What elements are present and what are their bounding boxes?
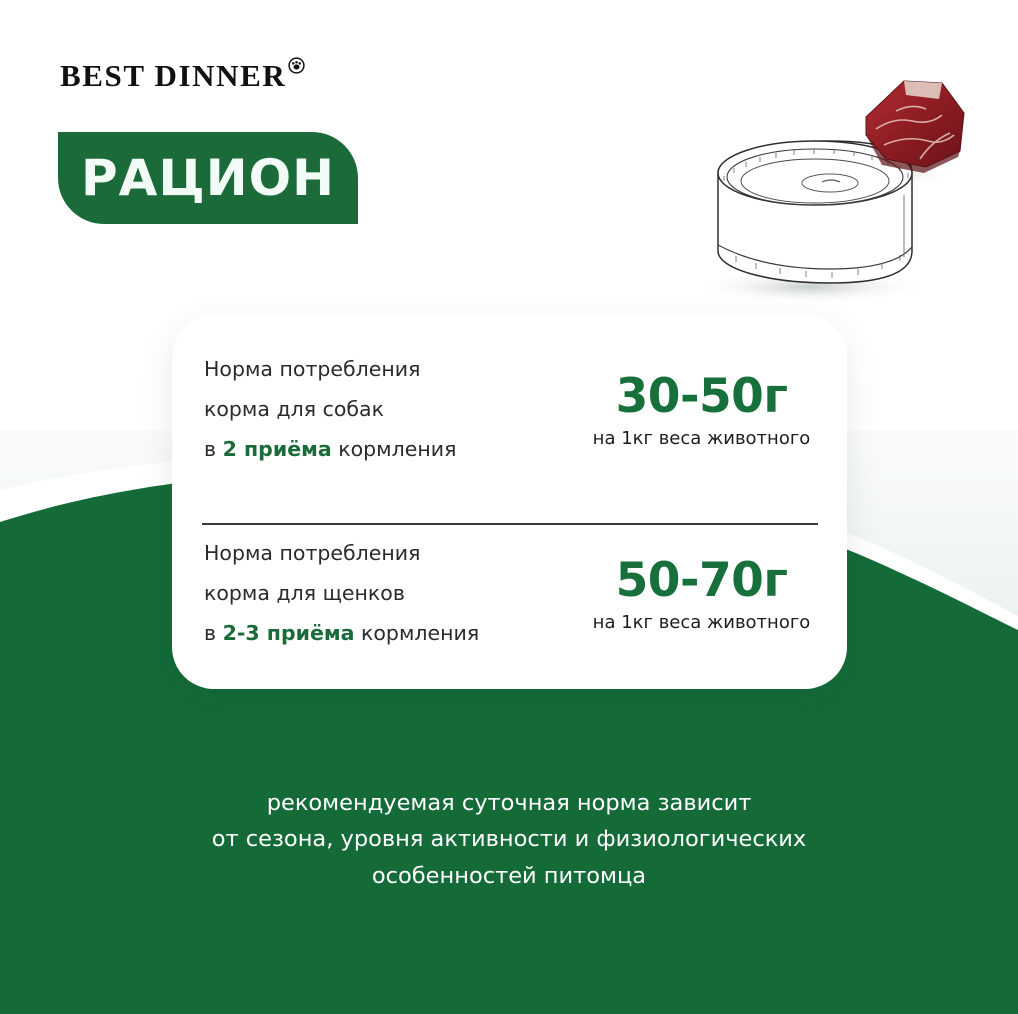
poster-root: BEST DINNER РАЦИОН bbox=[0, 0, 1018, 1014]
feeding-row-dogs-line3-prefix: в bbox=[204, 437, 223, 461]
feeding-row-puppies-line3-accent: 2-3 приёма bbox=[223, 621, 355, 645]
feeding-row-dogs-line2: корма для собак bbox=[204, 390, 570, 430]
footnote-line2: от сезона, уровня активности и физиологи… bbox=[0, 821, 1018, 857]
feeding-row-puppies-description: Норма потребления корма для щенков в 2-3… bbox=[172, 534, 570, 654]
product-illustration bbox=[690, 55, 980, 305]
feeding-row-dogs-line1: Норма потребления bbox=[204, 350, 570, 390]
feeding-row-dogs-line3: в 2 приёма кормления bbox=[204, 430, 570, 470]
brand-logo: BEST DINNER bbox=[60, 60, 305, 91]
footnote-line1: рекомендуемая суточная норма зависит bbox=[0, 785, 1018, 821]
feeding-row-dogs-amount-block: 30-50г на 1кг веса животного bbox=[570, 371, 847, 450]
feeding-row-puppies-line3: в 2-3 приёма кормления bbox=[204, 614, 570, 654]
feeding-row-puppies-amount-block: 50-70г на 1кг веса животного bbox=[570, 555, 847, 634]
brand-name: BEST DINNER bbox=[60, 60, 286, 91]
feeding-row-dogs-line3-suffix: кормления bbox=[332, 437, 457, 461]
feeding-row-puppies-line1: Норма потребления bbox=[204, 534, 570, 574]
feeding-row-puppies: Норма потребления корма для щенков в 2-3… bbox=[172, 505, 847, 683]
footnote: рекомендуемая суточная норма зависит от … bbox=[0, 785, 1018, 894]
feeding-norms-card: Норма потребления корма для собак в 2 пр… bbox=[172, 315, 847, 689]
feeding-row-dogs-line3-accent: 2 приёма bbox=[223, 437, 332, 461]
feeding-row-dogs-amount: 30-50г bbox=[570, 371, 833, 423]
feeding-row-puppies-line2: корма для щенков bbox=[204, 574, 570, 614]
footnote-line3: особенностей питомца bbox=[0, 858, 1018, 894]
feeding-row-puppies-per: на 1кг веса животного bbox=[570, 612, 833, 633]
feeding-row-dogs: Норма потребления корма для собак в 2 пр… bbox=[172, 321, 847, 499]
paw-in-circle-icon bbox=[288, 57, 305, 74]
feeding-row-puppies-line3-suffix: кормления bbox=[354, 621, 479, 645]
feeding-row-puppies-amount: 50-70г bbox=[570, 555, 833, 607]
ration-badge-label: РАЦИОН bbox=[81, 153, 335, 203]
feeding-row-dogs-description: Норма потребления корма для собак в 2 пр… bbox=[172, 350, 570, 470]
feeding-row-puppies-line3-prefix: в bbox=[204, 621, 223, 645]
feeding-row-dogs-per: на 1кг веса животного bbox=[570, 428, 833, 449]
ration-badge: РАЦИОН bbox=[58, 132, 358, 224]
